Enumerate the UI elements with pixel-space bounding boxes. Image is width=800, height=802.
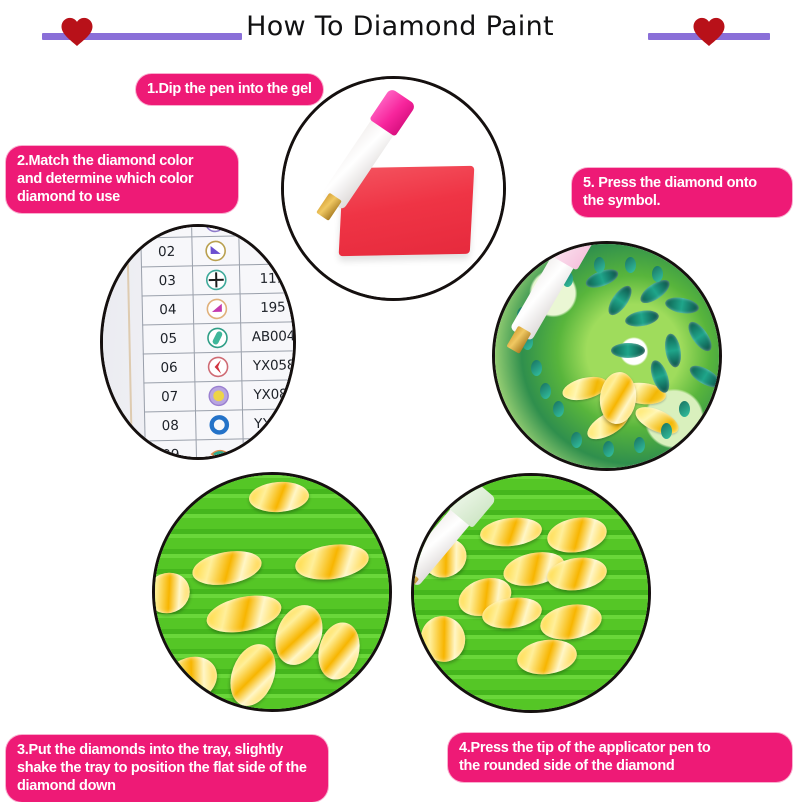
step-2-line-3: diamond to use	[17, 188, 227, 206]
step-4-line-1: 4.Press the tip of the applicator pen to	[459, 739, 781, 757]
legend-code: 195	[240, 293, 296, 323]
legend-code: AB004	[241, 322, 296, 352]
table-row: 05AB004	[143, 322, 296, 354]
step-5-line-1: 5. Press the diamond onto	[583, 174, 781, 192]
legend-number: 06	[143, 353, 195, 383]
legend-chart-sheet: 02802093031110419505AB00406YX05807YX0830…	[100, 224, 296, 460]
table-row: 04195	[142, 293, 296, 325]
table-row: 03111	[141, 264, 296, 296]
step-3-line-1: 3.Put the diamonds into the tray, slight…	[17, 741, 317, 759]
legend-number: 04	[142, 295, 194, 325]
legend-chart-body: 02802093031110419505AB00406YX05807YX0830…	[140, 224, 296, 460]
canvas-gem	[634, 437, 645, 453]
step-5-photo	[492, 241, 722, 471]
step-3-label: 3.Put the diamonds into the tray, slight…	[6, 735, 328, 802]
canvas-gem	[679, 401, 690, 417]
legend-symbol	[195, 410, 243, 440]
legend-symbol	[195, 381, 243, 411]
step-3-line-2: shake the tray to position the flat side…	[17, 759, 317, 777]
legend-code: 111	[239, 264, 296, 294]
table-row: 09YX125	[145, 438, 296, 460]
table-row: 07YX083	[144, 380, 296, 412]
step-4-line-2: the rounded side of the diamond	[459, 757, 781, 775]
legend-number: 08	[145, 411, 197, 441]
table-row: 02093	[141, 235, 296, 267]
legend-symbol	[194, 323, 242, 353]
legend-symbol	[193, 294, 241, 324]
step-1-photo	[281, 76, 506, 301]
legend-number: 07	[144, 382, 196, 412]
step-3-line-3: diamond down	[17, 777, 317, 795]
step-5-line-2: the symbol.	[583, 192, 781, 210]
step-2-line-2: and determine which color	[17, 170, 227, 188]
legend-symbol	[192, 265, 240, 295]
legend-number: 03	[141, 266, 193, 296]
table-row: 08YX106	[145, 409, 296, 441]
legend-code: YX083	[242, 380, 296, 410]
step-3-photo	[152, 472, 392, 712]
canvas-gem	[540, 383, 551, 399]
canvas-gem	[594, 257, 605, 273]
canvas-gem	[603, 441, 614, 457]
legend-code: YX125	[243, 438, 296, 460]
legend-code: YX106	[242, 409, 296, 439]
canvas-gem	[661, 423, 672, 439]
step-2-photo: 02802093031110419505AB00406YX05807YX0830…	[100, 224, 296, 460]
header: How To Diamond Paint	[0, 0, 800, 62]
table-row: 06YX058	[143, 351, 296, 383]
legend-symbol	[191, 224, 239, 237]
infographic-canvas: How To Diamond Paint 1.Dip the pen into …	[0, 0, 800, 800]
legend-symbol	[196, 439, 244, 460]
canvas-gem	[652, 266, 663, 282]
legend-number: 05	[143, 324, 195, 354]
legend-number: 02	[141, 237, 193, 267]
sheet-edge	[126, 224, 134, 460]
legend-code: YX058	[241, 351, 296, 381]
legend-number	[140, 224, 192, 238]
step-4-photo	[411, 473, 651, 713]
step-4-label: 4.Press the tip of the applicator pen to…	[448, 733, 792, 782]
step-2-label: 2.Match the diamond color and determine …	[6, 146, 238, 213]
legend-symbol	[194, 352, 242, 382]
step-5-label: 5. Press the diamond onto the symbol.	[572, 168, 792, 217]
legend-chart-table: 02802093031110419505AB00406YX05807YX0830…	[140, 224, 296, 460]
legend-symbol	[192, 236, 240, 266]
canvas-gem	[611, 343, 645, 358]
legend-code: 093	[239, 235, 296, 265]
step-2-line-1: 2.Match the diamond color	[17, 152, 227, 170]
legend-number: 09	[145, 440, 197, 460]
page-title: How To Diamond Paint	[0, 11, 800, 42]
